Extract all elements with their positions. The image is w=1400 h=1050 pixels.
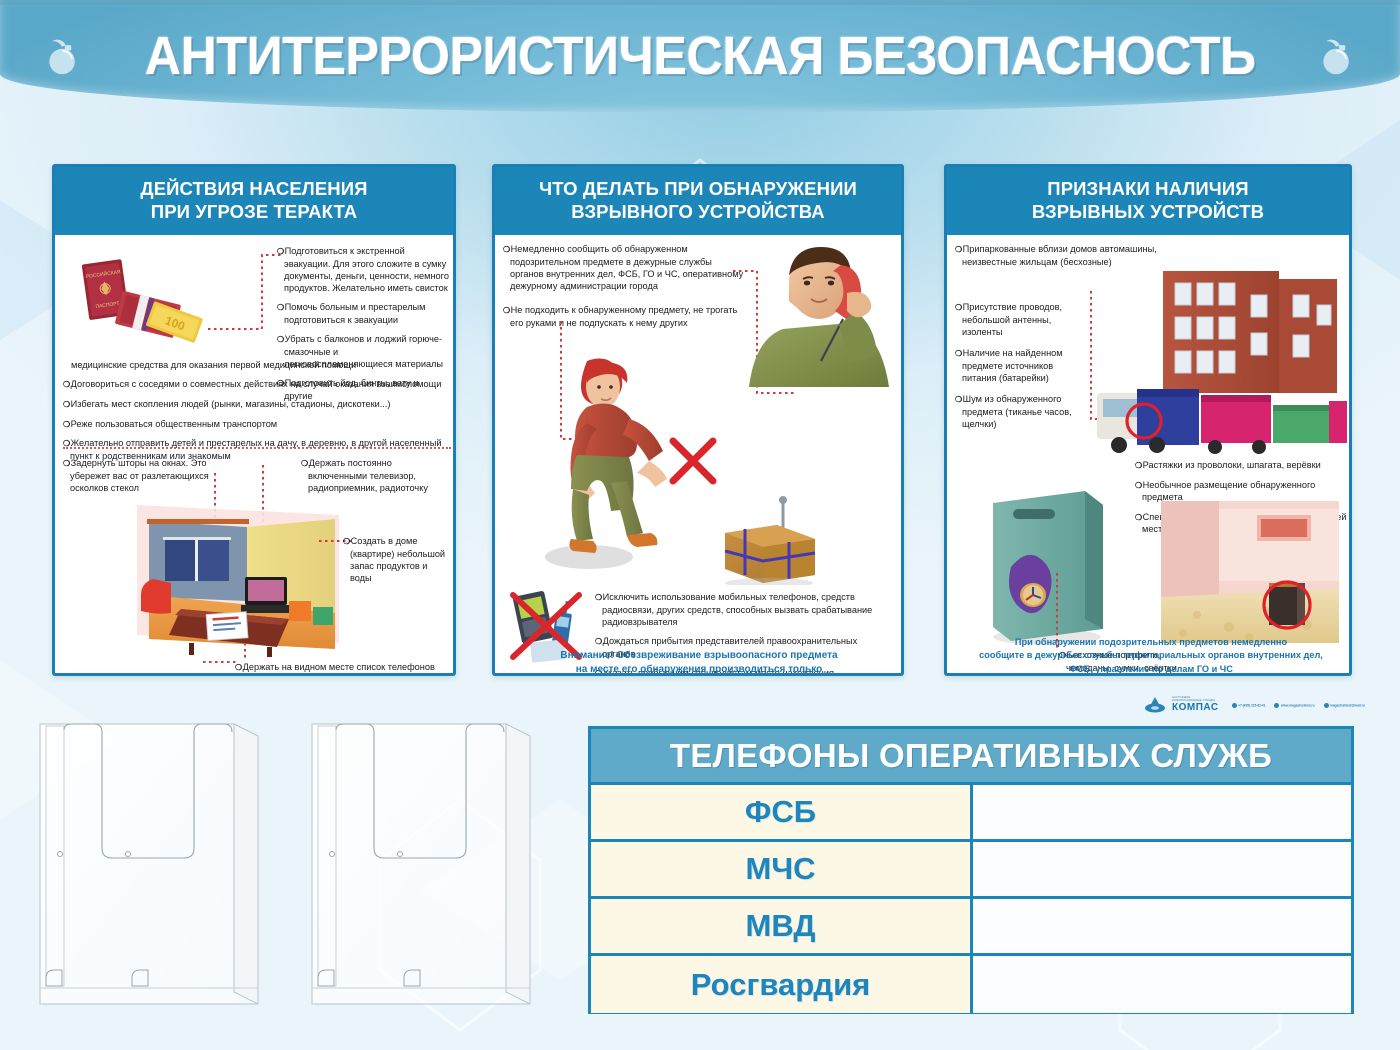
panel1-body: РОССИЙСКАЯ ПАСПОРТ 100 <box>55 235 453 676</box>
vendor-logo-strip: НАСТОЯЩИЕ ИНФОРМАЦИОННЫЕ СТЕНДЫ КОМПАС +… <box>1144 692 1358 718</box>
panel2-title-line2: ВЗРЫВНОГО УСТРОЙСТВА <box>503 201 893 224</box>
bomb-icon <box>43 35 83 77</box>
poster-board: АНТИТЕРРОРИСТИЧЕСКАЯ БЕЗОПАСНОСТЬ ДЕЙСТВ… <box>0 0 1400 1050</box>
room-with-briefcase-illustration <box>1157 497 1343 645</box>
table-row: МЧС <box>591 842 1351 899</box>
panel1-wide-list: медицинские средства для оказания первой… <box>63 359 451 469</box>
service-name: МЧС <box>591 842 973 896</box>
brochure-holder-pocket[interactable] <box>36 716 268 1012</box>
poster-header: АНТИТЕРРОРИСТИЧЕСКАЯ БЕЗОПАСНОСТЬ <box>0 0 1400 112</box>
phone-contact: +7 (495) 215-62-41 <box>1232 703 1266 708</box>
documents-money-illustration: РОССИЙСКАЯ ПАСПОРТ 100 <box>69 249 219 349</box>
warning-line-1: Внимание! Обезвреживание взрывоопасного … <box>509 649 889 663</box>
list-item: Подготовиться к экстренной эвакуации. Дл… <box>277 245 449 294</box>
mail-contact: magazinstend@mail.ru <box>1324 703 1365 708</box>
panel3-footer-note: При обнаружении подозрительных предметов… <box>959 636 1343 676</box>
man-on-phone-illustration <box>743 241 895 387</box>
panel1-radio-callout: Держать постоянно включенными телевизор,… <box>301 457 451 501</box>
table-row: Росгвардия <box>591 956 1351 1013</box>
bomb-icon <box>1317 35 1357 77</box>
compass-logo-icon <box>1144 695 1166 715</box>
panel1-phonelist-callout: Держать на видном месте список телефонов… <box>235 661 449 676</box>
panel2-body: Немедленно сообщить об обнаруженном подо… <box>495 235 901 676</box>
list-item: Исключить использование мобильных телефо… <box>595 591 891 628</box>
wrapped-parcel-bomb-illustration <box>719 495 827 585</box>
list-item: Держать на видном месте список телефонов… <box>235 661 449 676</box>
red-cross-prohibition-icon <box>667 435 719 487</box>
panel3-body: Припаркованные вблизи домов автомашины, … <box>947 235 1349 676</box>
logo-name: КОМПАС <box>1172 703 1219 713</box>
list-item: Шум из обнаруженного предмета (тиканье ч… <box>955 393 1081 430</box>
globe-icon <box>1274 703 1279 708</box>
brick-building-illustration <box>1157 265 1343 393</box>
service-number[interactable] <box>973 956 1351 1013</box>
panel1-header: ДЕЙСТВИЯ НАСЕЛЕНИЯ ПРИ УГРОЗЕ ТЕРАКТА <box>55 167 453 235</box>
service-number[interactable] <box>973 842 1351 896</box>
list-item: Присутствие проводов, небольшой антенны,… <box>955 301 1081 338</box>
emergency-phone-table: ТЕЛЕФОНЫ ОПЕРАТИВНЫХ СЛУЖБ ФСБ МЧС МВД Р… <box>588 726 1354 1014</box>
list-item: Держать постоянно включенными телевизор,… <box>301 457 451 494</box>
list-continuation: медицинские средства для оказания первой… <box>63 359 451 371</box>
service-name: Росгвардия <box>591 956 973 1013</box>
panel3-left-list: Присутствие проводов, небольшой антенны,… <box>955 301 1081 437</box>
panel1-title-line1: ДЕЙСТВИЯ НАСЕЛЕНИЯ <box>63 178 445 201</box>
list-item: Помочь больным и престарелым подготовить… <box>277 301 449 326</box>
table-header: ТЕЛЕФОНЫ ОПЕРАТИВНЫХ СЛУЖБ <box>591 729 1351 785</box>
panel1-supplies-callout: Создать в доме (квартире) небольшой запа… <box>343 535 451 591</box>
service-number[interactable] <box>973 899 1351 953</box>
list-item: Растяжки из проволоки, шпагата, верёвки <box>1135 459 1347 472</box>
table-row: ФСБ <box>591 785 1351 842</box>
footer-line-1: При обнаружении подозрительных предметов… <box>959 636 1343 649</box>
panel3-title-line2: ВЗРЫВНЫХ УСТРОЙСТВ <box>955 201 1341 224</box>
list-item: Немедленно сообщить об обнаруженном подо… <box>503 243 747 292</box>
panel-signs-of-devices: ПРИЗНАКИ НАЛИЧИЯ ВЗРЫВНЫХ УСТРОЙСТВ Прип… <box>944 164 1352 676</box>
panel3-title-line1: ПРИЗНАКИ НАЛИЧИЯ <box>955 178 1341 201</box>
site-contact: www.magazinstend.ru <box>1274 703 1314 708</box>
list-item: Договориться с соседями о совместных дей… <box>63 378 451 391</box>
brochure-holders <box>36 716 576 1038</box>
footer-line-2: сообщите в дежурные службы территориальн… <box>959 649 1343 662</box>
logo-contacts: +7 (495) 215-62-41 www.magazinstend.ru m… <box>1232 703 1365 708</box>
panel2-warning: Внимание! Обезвреживание взрывоопасного … <box>509 649 889 676</box>
list-item: Создать в доме (квартире) небольшой запа… <box>343 535 451 584</box>
panel3-header: ПРИЗНАКИ НАЛИЧИЯ ВЗРЫВНЫХ УСТРОЙСТВ <box>947 167 1349 235</box>
panel2-header: ЧТО ДЕЛАТЬ ПРИ ОБНАРУЖЕНИИ ВЗРЫВНОГО УСТ… <box>495 167 901 235</box>
brochure-holder-pocket[interactable] <box>308 716 540 1012</box>
parked-vehicles-illustration <box>1097 383 1347 461</box>
panel2-title-line1: ЧТО ДЕЛАТЬ ПРИ ОБНАРУЖЕНИИ <box>503 178 893 201</box>
list-item: Наличие на найденном предмете источников… <box>955 347 1081 384</box>
panel-population-actions: ДЕЙСТВИЯ НАСЕЛЕНИЯ ПРИ УГРОЗЕ ТЕРАКТА РО… <box>52 164 456 676</box>
panel1-title-line2: ПРИ УГРОЗЕ ТЕРАКТА <box>63 201 445 224</box>
panel1-divider <box>63 447 451 449</box>
list-item: Реже пользоваться общественным транспорт… <box>63 418 451 431</box>
mail-icon <box>1324 703 1329 708</box>
phone-icon <box>1232 703 1237 708</box>
service-name: ФСБ <box>591 785 973 839</box>
service-name: МВД <box>591 899 973 953</box>
page-title: АНТИТЕРРОРИСТИЧЕСКАЯ БЕЗОПАСНОСТЬ <box>145 25 1256 87</box>
apartment-room-illustration <box>129 497 347 657</box>
warning-line-2: на месте его обнаружения производиться т… <box>509 663 889 676</box>
table-row: МВД <box>591 899 1351 956</box>
footer-line-3: ФСБ, управление по делам ГО и ЧС <box>959 663 1343 676</box>
service-number[interactable] <box>973 785 1351 839</box>
list-item: Избегать мест скопления людей (рынки, ма… <box>63 398 451 411</box>
panel-what-to-do: ЧТО ДЕЛАТЬ ПРИ ОБНАРУЖЕНИИ ВЗРЫВНОГО УСТ… <box>492 164 904 676</box>
